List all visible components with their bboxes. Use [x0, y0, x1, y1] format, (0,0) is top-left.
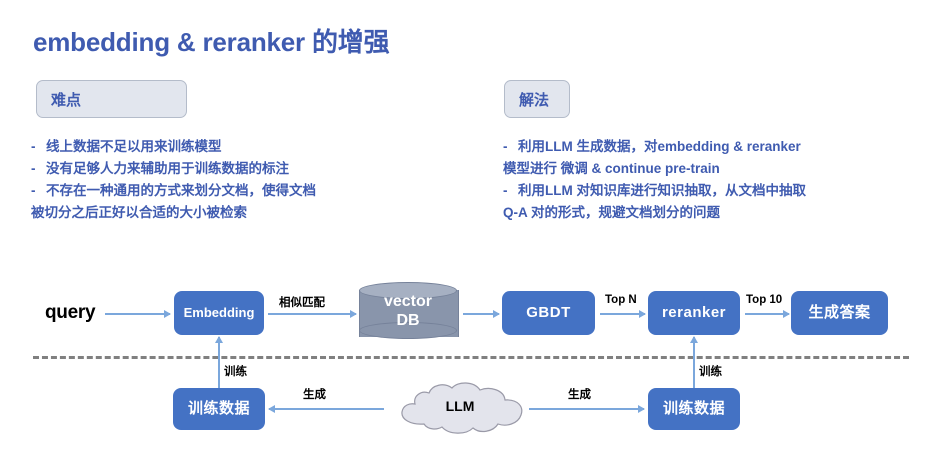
- node-training-data-right-label: 训练数据: [663, 401, 725, 418]
- edge-label-top-n: Top N: [605, 294, 637, 306]
- bullet-text: 模型进行 微调 & continue pre-train: [503, 158, 923, 180]
- bullet-continuation: 被切分之后正好以合适的大小被检索: [31, 202, 471, 224]
- bullet-text: 利用LLM 生成数据，对embedding & reranker: [518, 139, 801, 154]
- pipeline-diagram: query Embedding 相似匹配 vector DB GBDT Top …: [0, 262, 941, 465]
- section-divider: [33, 356, 909, 359]
- section-tag-solution-label: 解法: [519, 89, 549, 110]
- node-vector-db-label-line2: DB: [359, 311, 457, 330]
- bullet-text: 线上数据不足以用来训练模型: [46, 139, 222, 154]
- solution-bullet-list: -利用LLM 生成数据，对embedding & reranker 模型进行 微…: [503, 136, 923, 224]
- edge-label-generate-left: 生成: [303, 386, 326, 402]
- bullet-text: 利用LLM 对知识库进行知识抽取，从文档中抽取: [518, 183, 806, 198]
- bullet-text: 不存在一种通用的方式来划分文档，使得文档: [46, 183, 316, 198]
- arrow-llm-to-training-data-left: [269, 408, 384, 410]
- bullet-dash: -: [503, 136, 518, 158]
- bullet-dash: -: [31, 136, 46, 158]
- page-title: embedding & reranker 的增强: [33, 22, 389, 59]
- edge-label-train-left: 训练: [224, 363, 247, 379]
- node-vector-db[interactable]: vector DB: [359, 282, 457, 344]
- arrow-vectordb-to-gbdt: [463, 313, 499, 315]
- node-training-data-left[interactable]: 训练数据: [173, 388, 265, 430]
- section-tag-difficulty: 难点: [36, 80, 187, 118]
- node-generate-answer-label: 生成答案: [808, 305, 870, 322]
- difficulty-bullet-list: -线上数据不足以用来训练模型 -没有足够人力来辅助用于训练数据的标注 -不存在一…: [31, 136, 471, 224]
- node-gbdt-label: GBDT: [526, 305, 571, 322]
- node-embedding-label: Embedding: [184, 306, 255, 320]
- list-item: -利用LLM 生成数据，对embedding & reranker: [503, 136, 923, 158]
- arrow-reranker-to-answer: [745, 313, 789, 315]
- node-training-data-right[interactable]: 训练数据: [648, 388, 740, 430]
- list-item: -线上数据不足以用来训练模型: [31, 136, 471, 158]
- node-reranker[interactable]: reranker: [648, 291, 740, 335]
- section-tag-difficulty-label: 难点: [51, 89, 81, 110]
- edge-label-generate-right: 生成: [568, 386, 591, 402]
- node-embedding[interactable]: Embedding: [174, 291, 264, 335]
- bullet-dash: -: [31, 158, 46, 180]
- list-item: -不存在一种通用的方式来划分文档，使得文档: [31, 180, 471, 202]
- bullet-dash: -: [31, 180, 46, 202]
- arrow-train-reranker: [693, 337, 695, 392]
- arrow-llm-to-training-data-right: [529, 408, 644, 410]
- node-gbdt[interactable]: GBDT: [502, 291, 595, 335]
- node-training-data-left-label: 训练数据: [188, 401, 250, 418]
- node-reranker-label: reranker: [662, 305, 726, 322]
- node-llm-label: LLM: [394, 398, 526, 414]
- arrow-embedding-to-vectordb: [268, 313, 356, 315]
- list-item: -利用LLM 对知识库进行知识抽取，从文档中抽取: [503, 180, 923, 202]
- arrow-gbdt-to-reranker: [600, 313, 645, 315]
- list-item: -没有足够人力来辅助用于训练数据的标注: [31, 158, 471, 180]
- edge-label-top-10: Top 10: [746, 294, 782, 306]
- section-tag-solution: 解法: [504, 80, 570, 118]
- arrow-train-embedding: [218, 337, 220, 392]
- bullet-dash: -: [503, 180, 518, 202]
- edge-label-train-right: 训练: [699, 363, 722, 379]
- node-llm[interactable]: LLM: [394, 380, 526, 436]
- query-label: query: [45, 302, 95, 324]
- bullet-text: 没有足够人力来辅助用于训练数据的标注: [46, 161, 289, 176]
- edge-label-similarity-match: 相似匹配: [279, 294, 325, 310]
- node-generate-answer[interactable]: 生成答案: [791, 291, 888, 335]
- node-vector-db-label: vector DB: [359, 292, 457, 330]
- slide-canvas: embedding & reranker 的增强 难点 解法 -线上数据不足以用…: [0, 0, 941, 465]
- arrow-query-to-embedding: [105, 313, 170, 315]
- node-vector-db-label-line1: vector: [359, 292, 457, 311]
- bullet-continuation: Q-A 对的形式，规避文档划分的问题: [503, 202, 923, 224]
